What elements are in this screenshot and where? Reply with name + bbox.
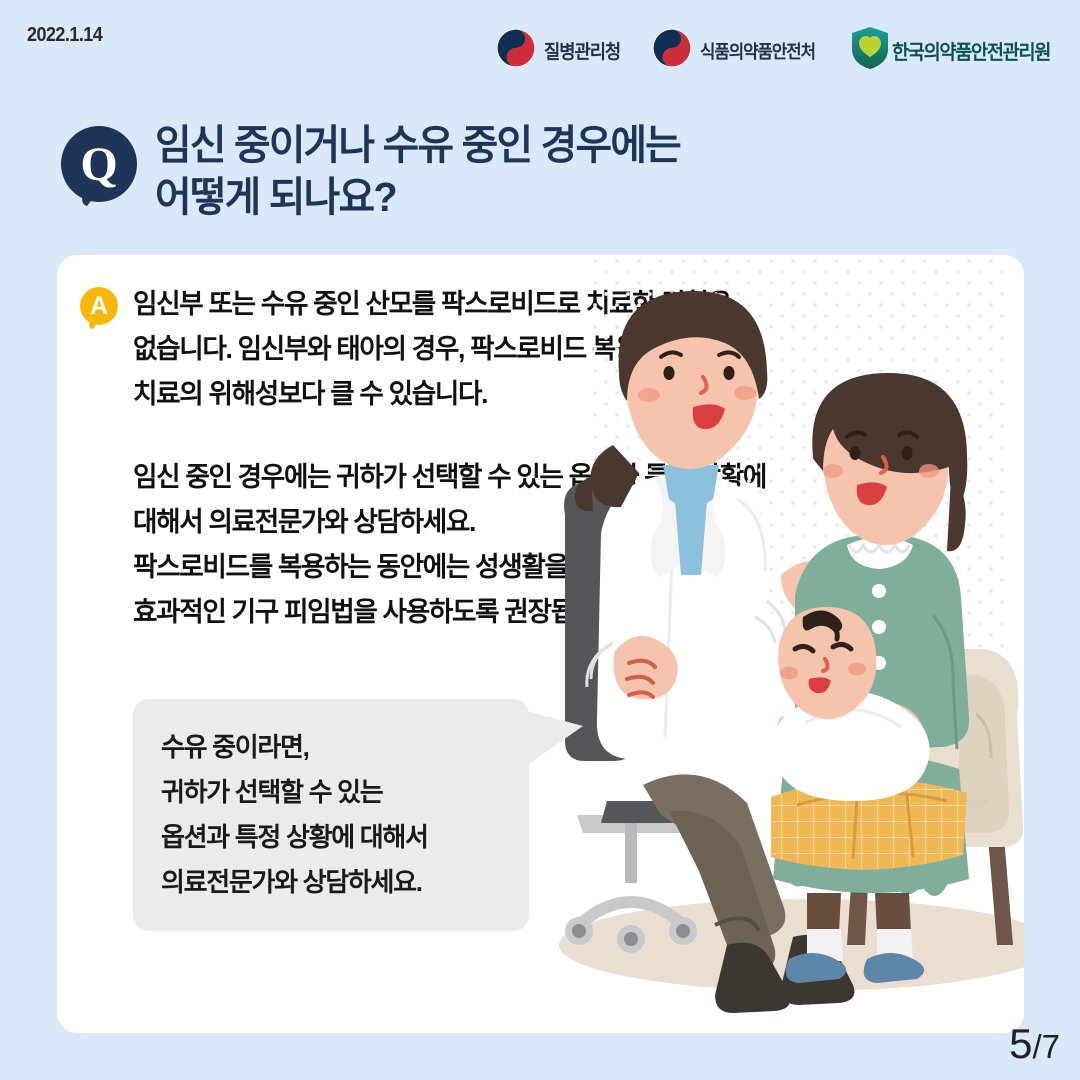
- infographic-card: 2022.1.14 질병관리청 식품의약품안전처: [0, 0, 1080, 1080]
- shield-heart-icon: [850, 26, 890, 75]
- taegeuk-icon: [496, 28, 536, 73]
- answer-card: A 임신부 또는 수유 중인 산모를 팍스로비드로 치료한 경험은 없습니다. …: [57, 255, 1024, 1033]
- callout-line-1: 수유 중이라면,: [161, 725, 505, 770]
- callout-line-2: 귀하가 선택할 수 있는: [161, 770, 505, 815]
- svg-text:A: A: [90, 292, 108, 320]
- question-block: Q 임신 중이거나 수유 중인 경우에는 어떻게 되나요?: [57, 118, 696, 222]
- mfds-logo-label: 식품의약품안전처: [700, 38, 815, 64]
- taegeuk-icon: [652, 28, 692, 73]
- question-line-1: 임신 중이거나 수유 중인 경우에는: [155, 118, 680, 170]
- question-line-2: 어떻게 되나요?: [155, 170, 680, 222]
- svg-text:Q: Q: [80, 138, 117, 191]
- answer-badge: A: [77, 286, 121, 330]
- doctor-and-mother-with-baby-illustration: [557, 255, 1024, 1033]
- agency-logos: 질병관리청 식품의약품안전처: [496, 26, 1062, 75]
- callout-bubble: 수유 중이라면, 귀하가 선택할 수 있는 옵션과 특정 상황에 대해서 의료전…: [133, 699, 529, 931]
- kids-logo-label: 한국의약품안전관리원: [892, 36, 1050, 65]
- kids-logo: 한국의약품안전관리원: [850, 26, 1062, 75]
- callout-bubble-tail: [523, 710, 583, 768]
- mfds-logo: 식품의약품안전처: [652, 28, 824, 73]
- question-title: 임신 중이거나 수유 중인 경우에는 어떻게 되나요?: [155, 118, 696, 222]
- pagination-total: /7: [1032, 1028, 1060, 1066]
- pagination: 5 /7: [1009, 1020, 1060, 1068]
- callout-line-4: 의료전문가와 상담하세요.: [161, 860, 505, 905]
- kdca-logo-label: 질병관리청: [544, 37, 620, 64]
- callout-line-3: 옵션과 특정 상황에 대해서: [161, 815, 505, 860]
- publish-date: 2022.1.14: [27, 24, 102, 47]
- question-badge: Q: [57, 124, 141, 208]
- kdca-logo: 질병관리청: [496, 28, 626, 73]
- pagination-current: 5: [1009, 1020, 1032, 1068]
